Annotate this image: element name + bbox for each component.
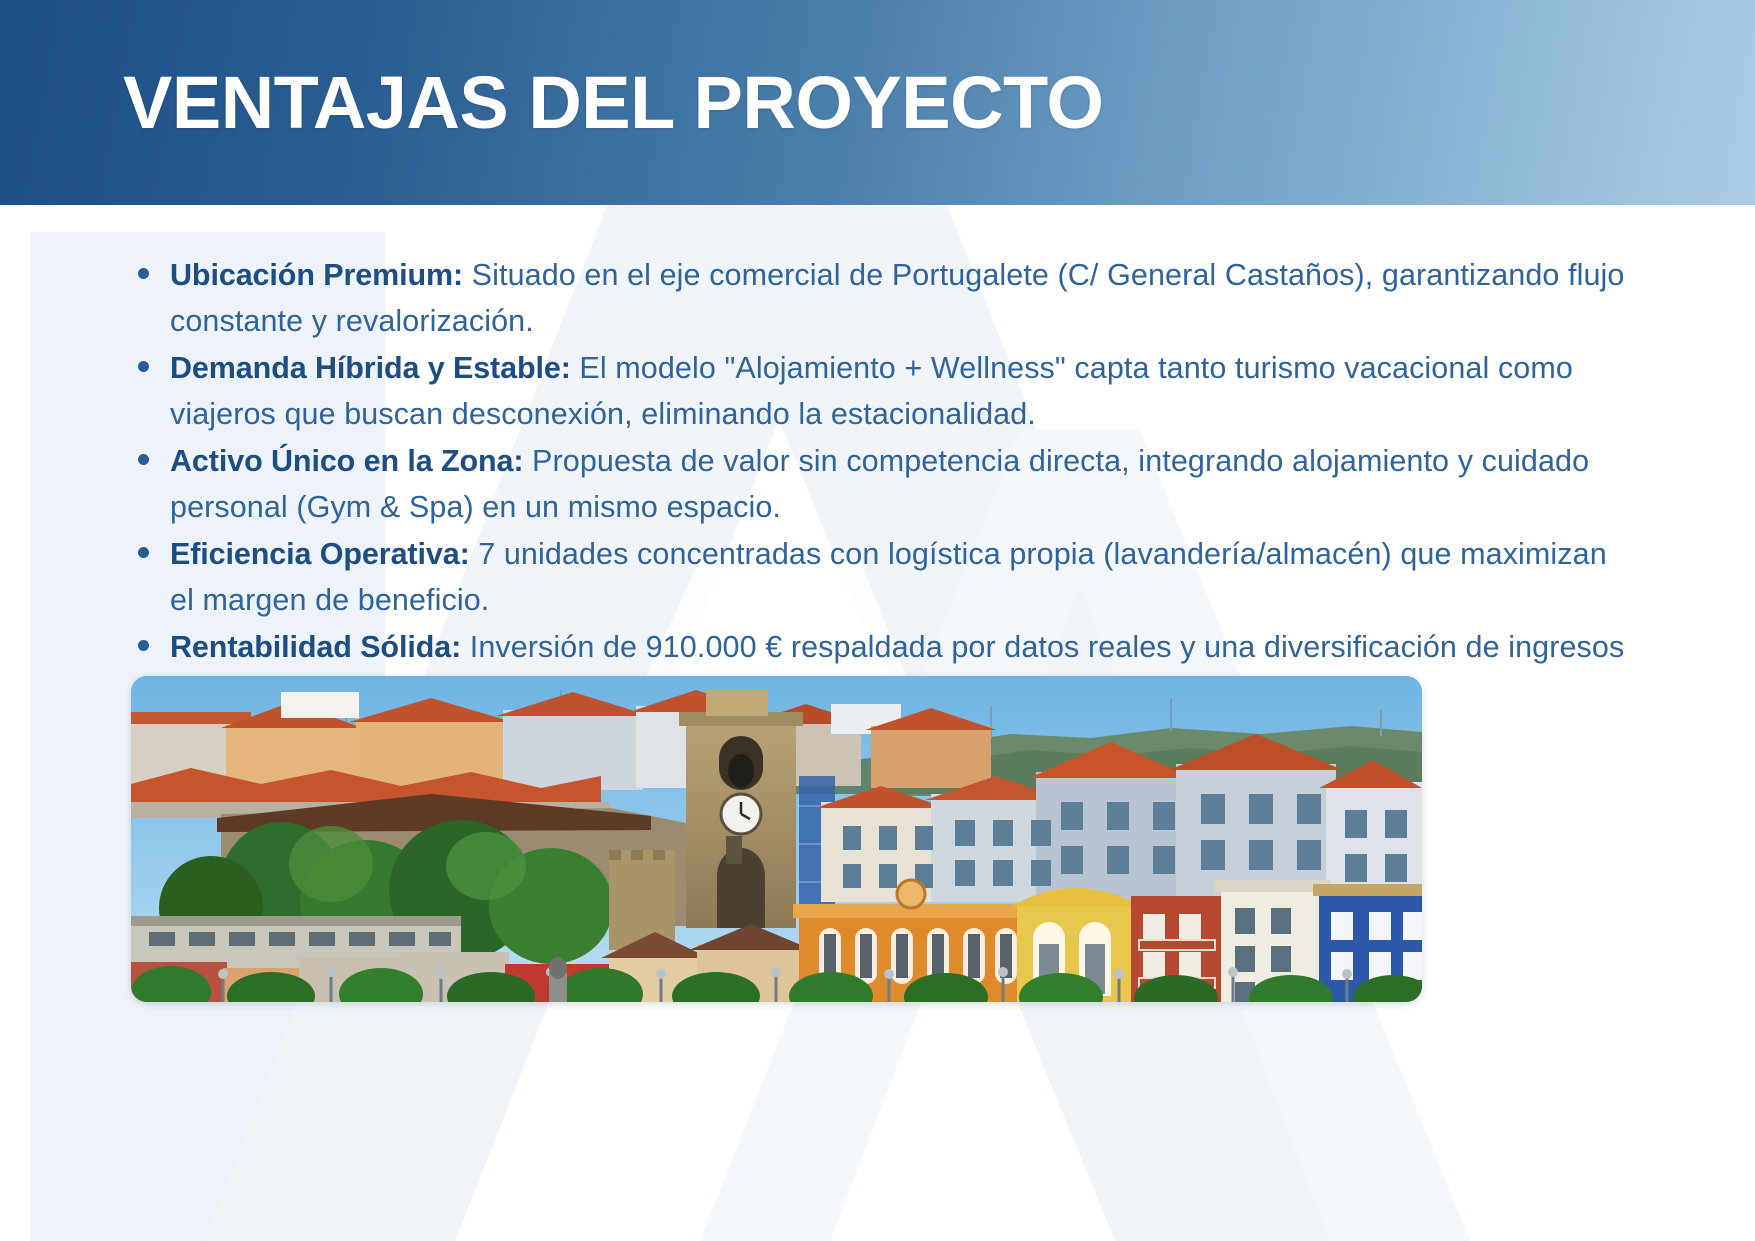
slide: VENTAJAS DEL PROYECTO Ubicación Premium:…	[0, 0, 1755, 1241]
bullet-dot-icon	[138, 454, 149, 465]
portugalete-skyline-illustration	[131, 676, 1422, 1002]
list-item: Eficiencia Operativa: 7 unidades concent…	[128, 531, 1628, 623]
list-item-lead: Eficiencia Operativa:	[170, 537, 470, 571]
advantages-list: Ubicación Premium: Situado en el eje com…	[128, 252, 1628, 717]
list-item: Demanda Híbrida y Estable: El modelo "Al…	[128, 345, 1628, 437]
bullet-dot-icon	[138, 640, 149, 651]
bullet-dot-icon	[138, 361, 149, 372]
page-title: VENTAJAS DEL PROYECTO	[123, 66, 1103, 140]
header-band: VENTAJAS DEL PROYECTO	[0, 0, 1755, 205]
city-photo	[131, 676, 1422, 1002]
list-item-lead: Demanda Híbrida y Estable:	[170, 351, 571, 385]
list-item-lead: Rentabilidad Sólida:	[170, 630, 461, 664]
bullet-dot-icon	[138, 268, 149, 279]
list-item-lead: Activo Único en la Zona:	[170, 444, 523, 478]
list-item: Activo Único en la Zona: Propuesta de va…	[128, 438, 1628, 530]
bullet-dot-icon	[138, 547, 149, 558]
list-item-lead: Ubicación Premium:	[170, 258, 463, 292]
list-item: Ubicación Premium: Situado en el eje com…	[128, 252, 1628, 344]
